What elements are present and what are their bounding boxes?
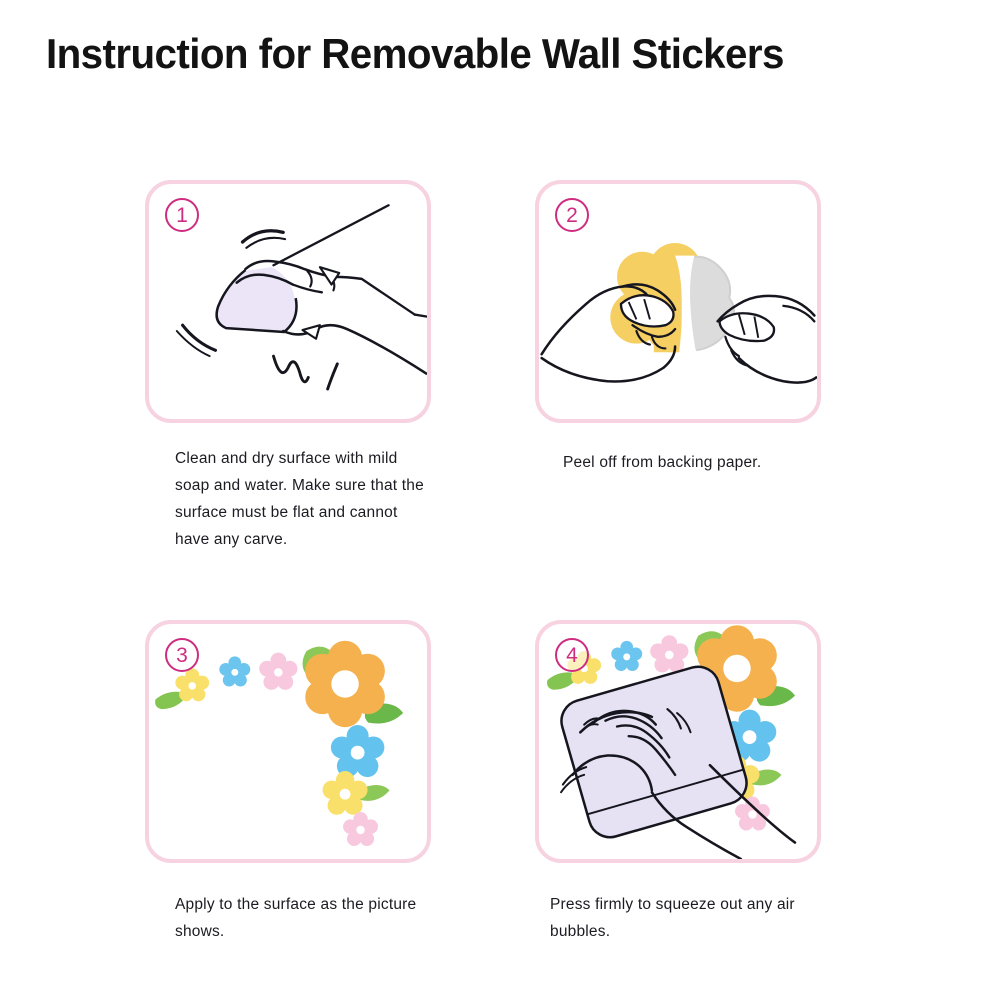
step-item-4: 4: [535, 620, 835, 945]
step-caption-4: Press firmly to squeeze out any air bubb…: [550, 891, 802, 945]
flower-pink-bottom: [343, 812, 378, 846]
step-badge-2: 2: [555, 198, 589, 232]
step-number-label: 2: [566, 205, 578, 226]
flower-pink-bottom: [735, 797, 770, 831]
step-number-label: 1: [176, 205, 188, 226]
step-item-3: 3: [145, 620, 445, 945]
flower-yellow-medium: [323, 771, 368, 815]
step-item-1: 1: [145, 180, 445, 553]
step-panel-1: 1: [145, 180, 431, 423]
flower-blue-small: [219, 656, 250, 686]
step-panel-3: 3: [145, 620, 431, 863]
step-badge-3: 3: [165, 638, 199, 672]
step-panel-4: 4: [535, 620, 821, 863]
step-caption-3: Apply to the surface as the picture show…: [175, 891, 427, 945]
step-panel-2: 2: [535, 180, 821, 423]
flower-yellow-small: [175, 668, 209, 701]
step-number-label: 4: [566, 645, 578, 666]
step-badge-4: 4: [555, 638, 589, 672]
step-caption-1: Clean and dry surface with mild soap and…: [175, 445, 427, 553]
step-badge-1: 1: [165, 198, 199, 232]
step-item-2: 2: [535, 180, 835, 476]
flower-blue-small: [611, 641, 642, 671]
step-caption-2: Peel off from backing paper.: [563, 449, 815, 476]
step-number-label: 3: [176, 645, 188, 666]
steps-grid: 1: [0, 0, 1000, 1000]
flower-blue-medium: [331, 725, 384, 777]
flower-pink-small: [650, 635, 688, 672]
flower-pink-small: [259, 653, 297, 690]
